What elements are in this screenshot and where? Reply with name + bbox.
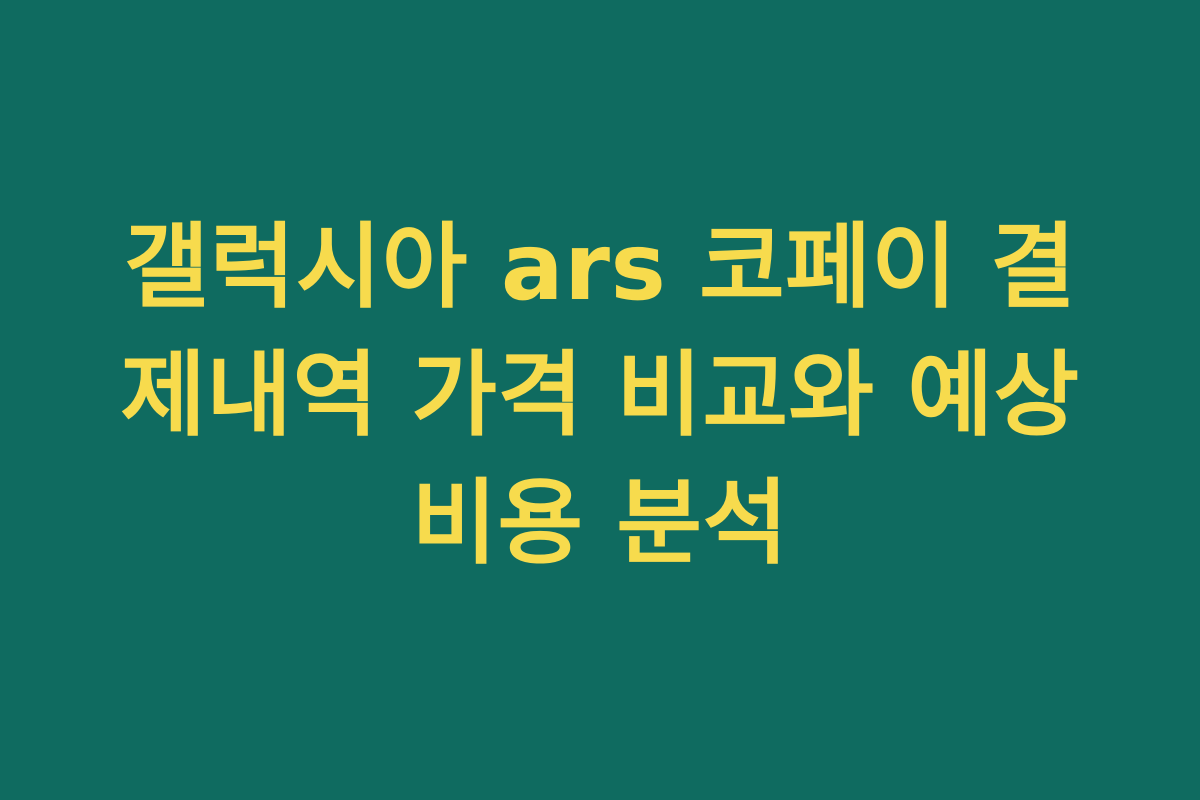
title-card-canvas: 갤럭시아 ars 코페이 결 제내역 가격 비교와 예상 비용 분석: [0, 0, 1200, 800]
title-line-2: 제내역 가격 비교와 예상: [70, 331, 1130, 459]
title-line-3: 비용 분석: [70, 459, 1130, 587]
page-title: 갤럭시아 ars 코페이 결 제내역 가격 비교와 예상 비용 분석: [70, 203, 1130, 587]
title-line-1: 갤럭시아 ars 코페이 결: [70, 203, 1130, 331]
